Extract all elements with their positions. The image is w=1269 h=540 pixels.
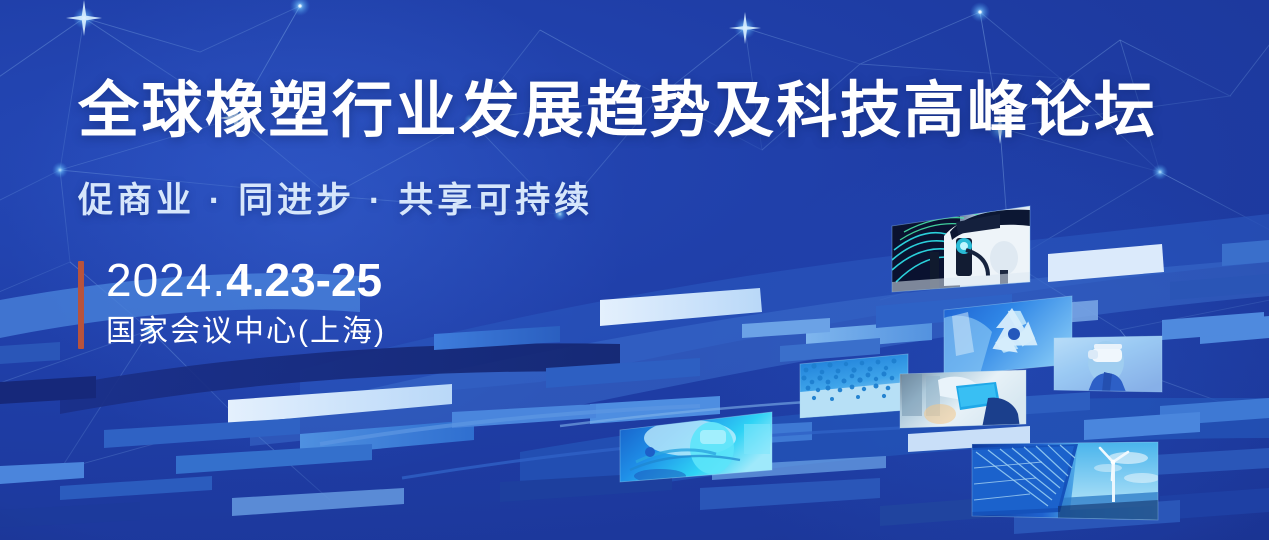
- event-date: 2024.4.23-25: [106, 257, 1208, 303]
- event-date-year: 2024.: [106, 254, 226, 306]
- event-subtitle: 促商业 · 同进步 · 共享可持续: [78, 172, 1208, 223]
- accent-bar: [78, 261, 84, 349]
- event-title: 全球橡塑行业发展趋势及科技高峰论坛: [78, 78, 1208, 142]
- event-date-days: 4.23-25: [226, 254, 382, 306]
- event-venue: 国家会议中心(上海): [106, 317, 1208, 347]
- event-banner: 全球橡塑行业发展趋势及科技高峰论坛 促商业 · 同进步 · 共享可持续 2024…: [0, 0, 1269, 540]
- banner-content: 全球橡塑行业发展趋势及科技高峰论坛 促商业 · 同进步 · 共享可持续 2024…: [78, 78, 1208, 347]
- event-date-block: 2024.4.23-25 国家会议中心(上海): [78, 257, 1208, 347]
